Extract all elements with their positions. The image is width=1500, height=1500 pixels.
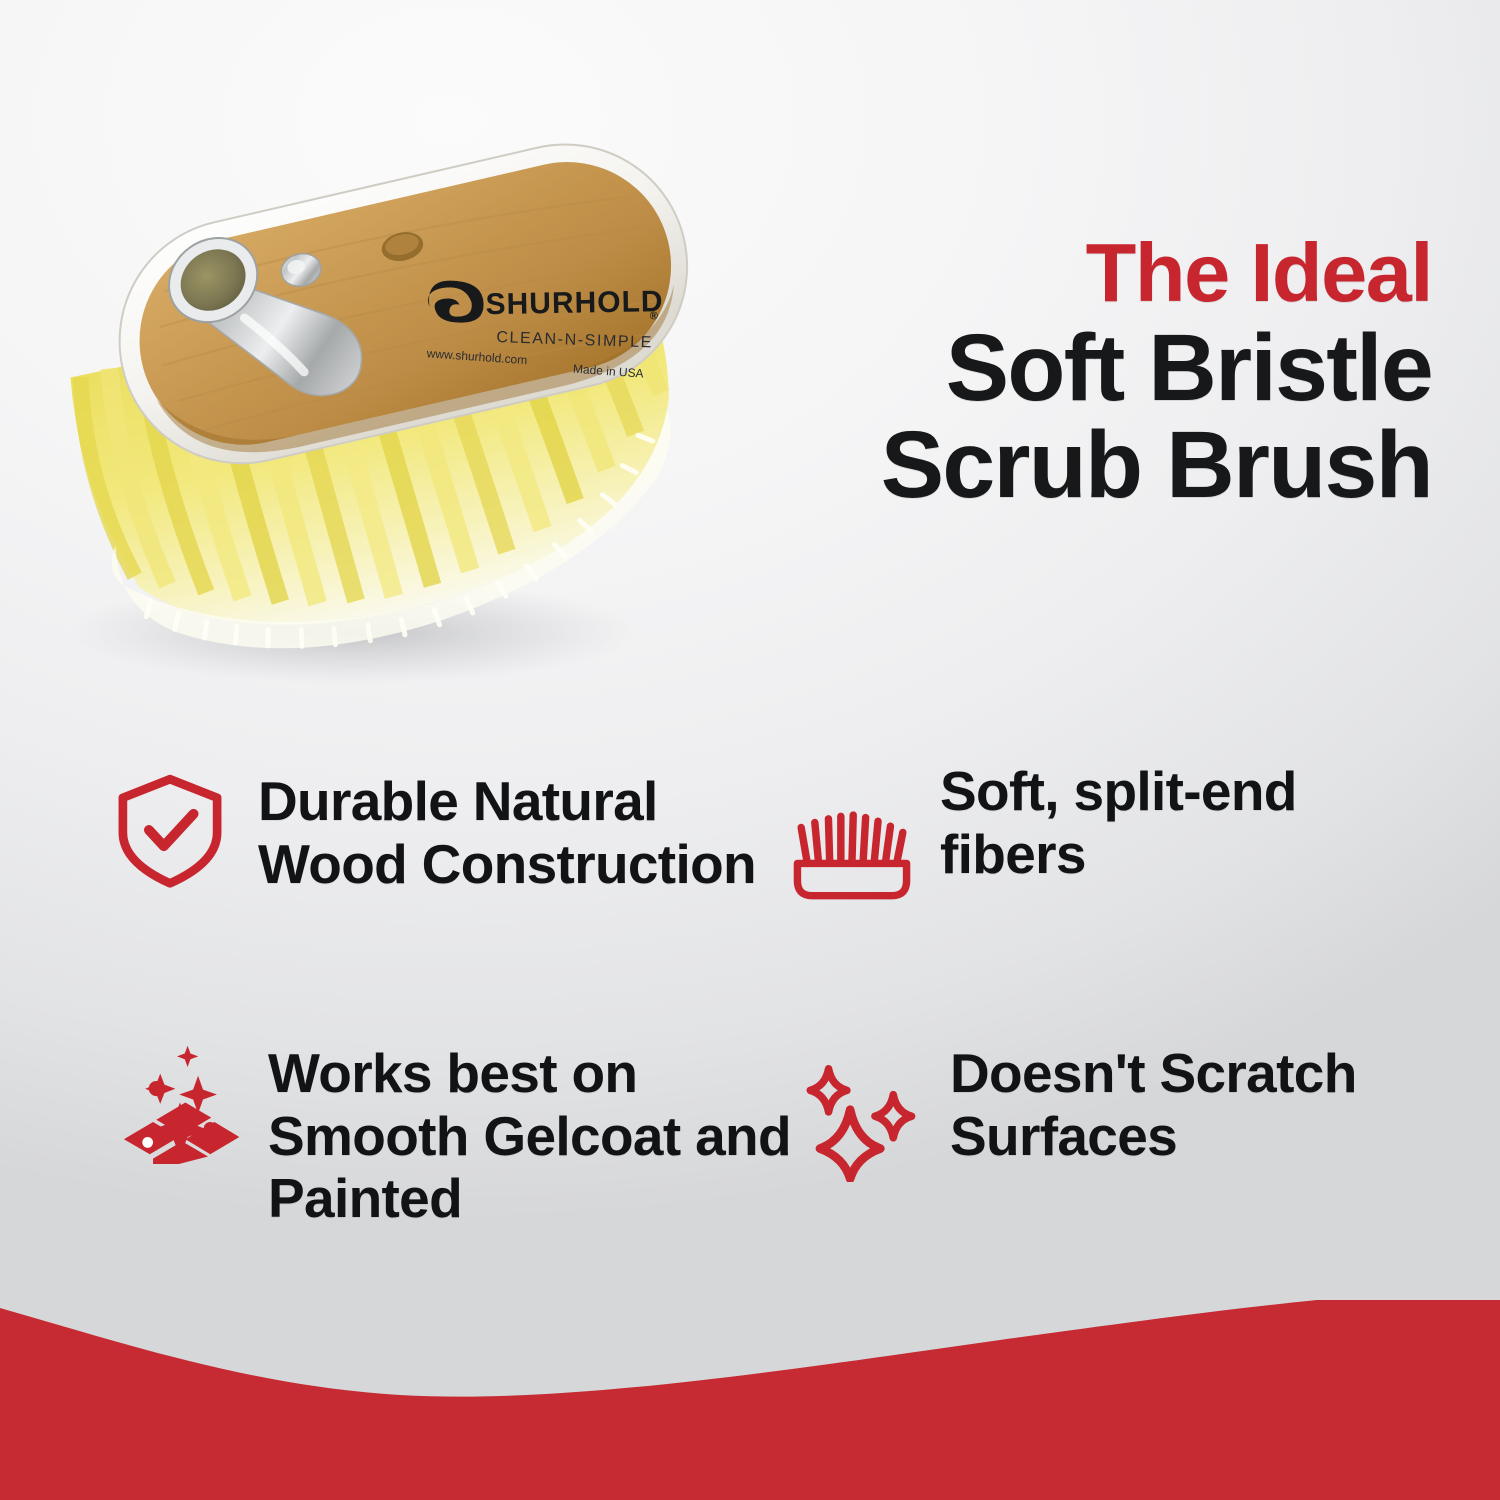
sparkles-icon	[800, 1058, 924, 1182]
product-image: SHURHOLD ® CLEAN-N-SIMPLE www.shurhold.c…	[22, 120, 782, 700]
svg-text:®: ®	[650, 310, 658, 322]
headline-line-2: Soft Bristle	[712, 321, 1432, 415]
feature-no-scratch: Doesn't Scratch Surfaces	[800, 1040, 1440, 1182]
headline: The Ideal Soft Bristle Scrub Brush	[712, 232, 1432, 512]
sparkling-tile-surface-icon	[118, 1040, 242, 1164]
scrub-brush-illustration: SHURHOLD ® CLEAN-N-SIMPLE www.shurhold.c…	[22, 120, 782, 700]
feature-grid: Durable Natural Wood Construction	[0, 740, 1500, 1340]
feature-label: Doesn't Scratch Surfaces	[950, 1040, 1440, 1167]
feature-label: Soft, split-end fibers	[940, 758, 1430, 885]
shield-check-icon	[108, 768, 232, 892]
feature-smooth-surfaces: Works best on Smooth Gelcoat and Painted	[118, 1040, 808, 1230]
headline-line-1: The Ideal	[712, 232, 1432, 314]
brush-bristles-icon	[790, 794, 914, 918]
feature-durable-wood: Durable Natural Wood Construction	[108, 768, 788, 895]
brand-name: SHURHOLD	[485, 285, 664, 321]
feature-label: Works best on Smooth Gelcoat and Painted	[268, 1040, 808, 1230]
feature-label: Durable Natural Wood Construction	[258, 768, 788, 895]
feature-soft-fibers: Soft, split-end fibers	[790, 758, 1430, 918]
bottom-wave-banner	[0, 1300, 1500, 1500]
wave-shape	[0, 1300, 1500, 1500]
headline-line-3: Scrub Brush	[712, 418, 1432, 512]
product-poster: SHURHOLD ® CLEAN-N-SIMPLE www.shurhold.c…	[0, 0, 1500, 1500]
